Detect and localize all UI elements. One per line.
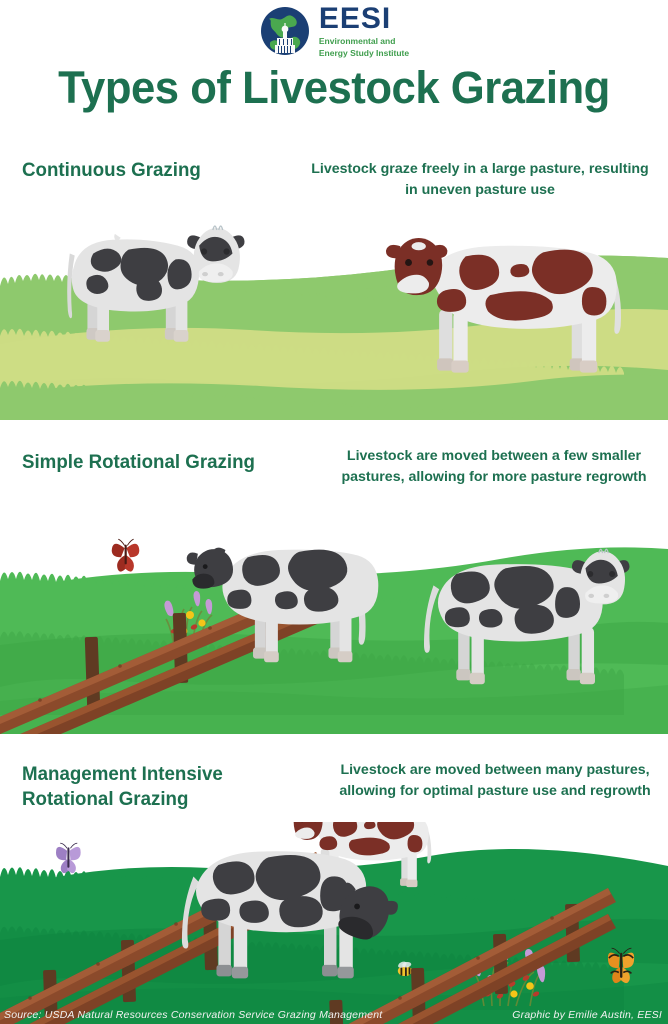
section-description-management-intensive-rotational-grazing: Livestock are moved between many pasture… xyxy=(330,760,660,801)
section-heading-line-1: Management Intensive xyxy=(22,762,300,787)
section-heading-line-2: Rotational Grazing xyxy=(22,787,300,812)
scene-simple-rotational-grazing xyxy=(0,533,668,734)
eesi-acronym: EESI xyxy=(319,4,409,34)
section-heading-simple-rotational-grazing: Simple Rotational Grazing xyxy=(22,450,320,475)
eesi-tagline-line1: Environmental and xyxy=(319,36,409,46)
section-heading-continuous-grazing: Continuous Grazing xyxy=(22,158,310,183)
eesi-logo-text: EESI Environmental and Energy Study Inst… xyxy=(319,4,409,58)
eesi-tagline-line2: Energy Study Institute xyxy=(319,48,409,58)
purple-butterfly-icon xyxy=(56,843,81,873)
scene-continuous-grazing xyxy=(0,218,668,420)
globe-capitol-icon xyxy=(259,5,311,57)
section-description-continuous-grazing: Livestock graze freely in a large pastur… xyxy=(310,159,650,200)
red-butterfly-icon xyxy=(112,539,140,571)
page-title: Types of Livestock Grazing xyxy=(10,62,658,114)
section-description-simple-rotational-grazing: Livestock are moved between a few smalle… xyxy=(325,446,663,487)
graphic-credit: Graphic by Emilie Austin, EESI xyxy=(512,1009,662,1021)
section-heading-management-intensive-rotational-grazing: Management Intensive Rotational Grazing xyxy=(22,762,300,812)
source-credit: Source: USDA Natural Resources Conservat… xyxy=(4,1009,382,1021)
eesi-logo: EESI Environmental and Energy Study Inst… xyxy=(0,4,668,58)
scene-management-intensive-rotational-grazing xyxy=(0,822,668,1024)
infographic-page: EESI Environmental and Energy Study Inst… xyxy=(0,0,668,1024)
